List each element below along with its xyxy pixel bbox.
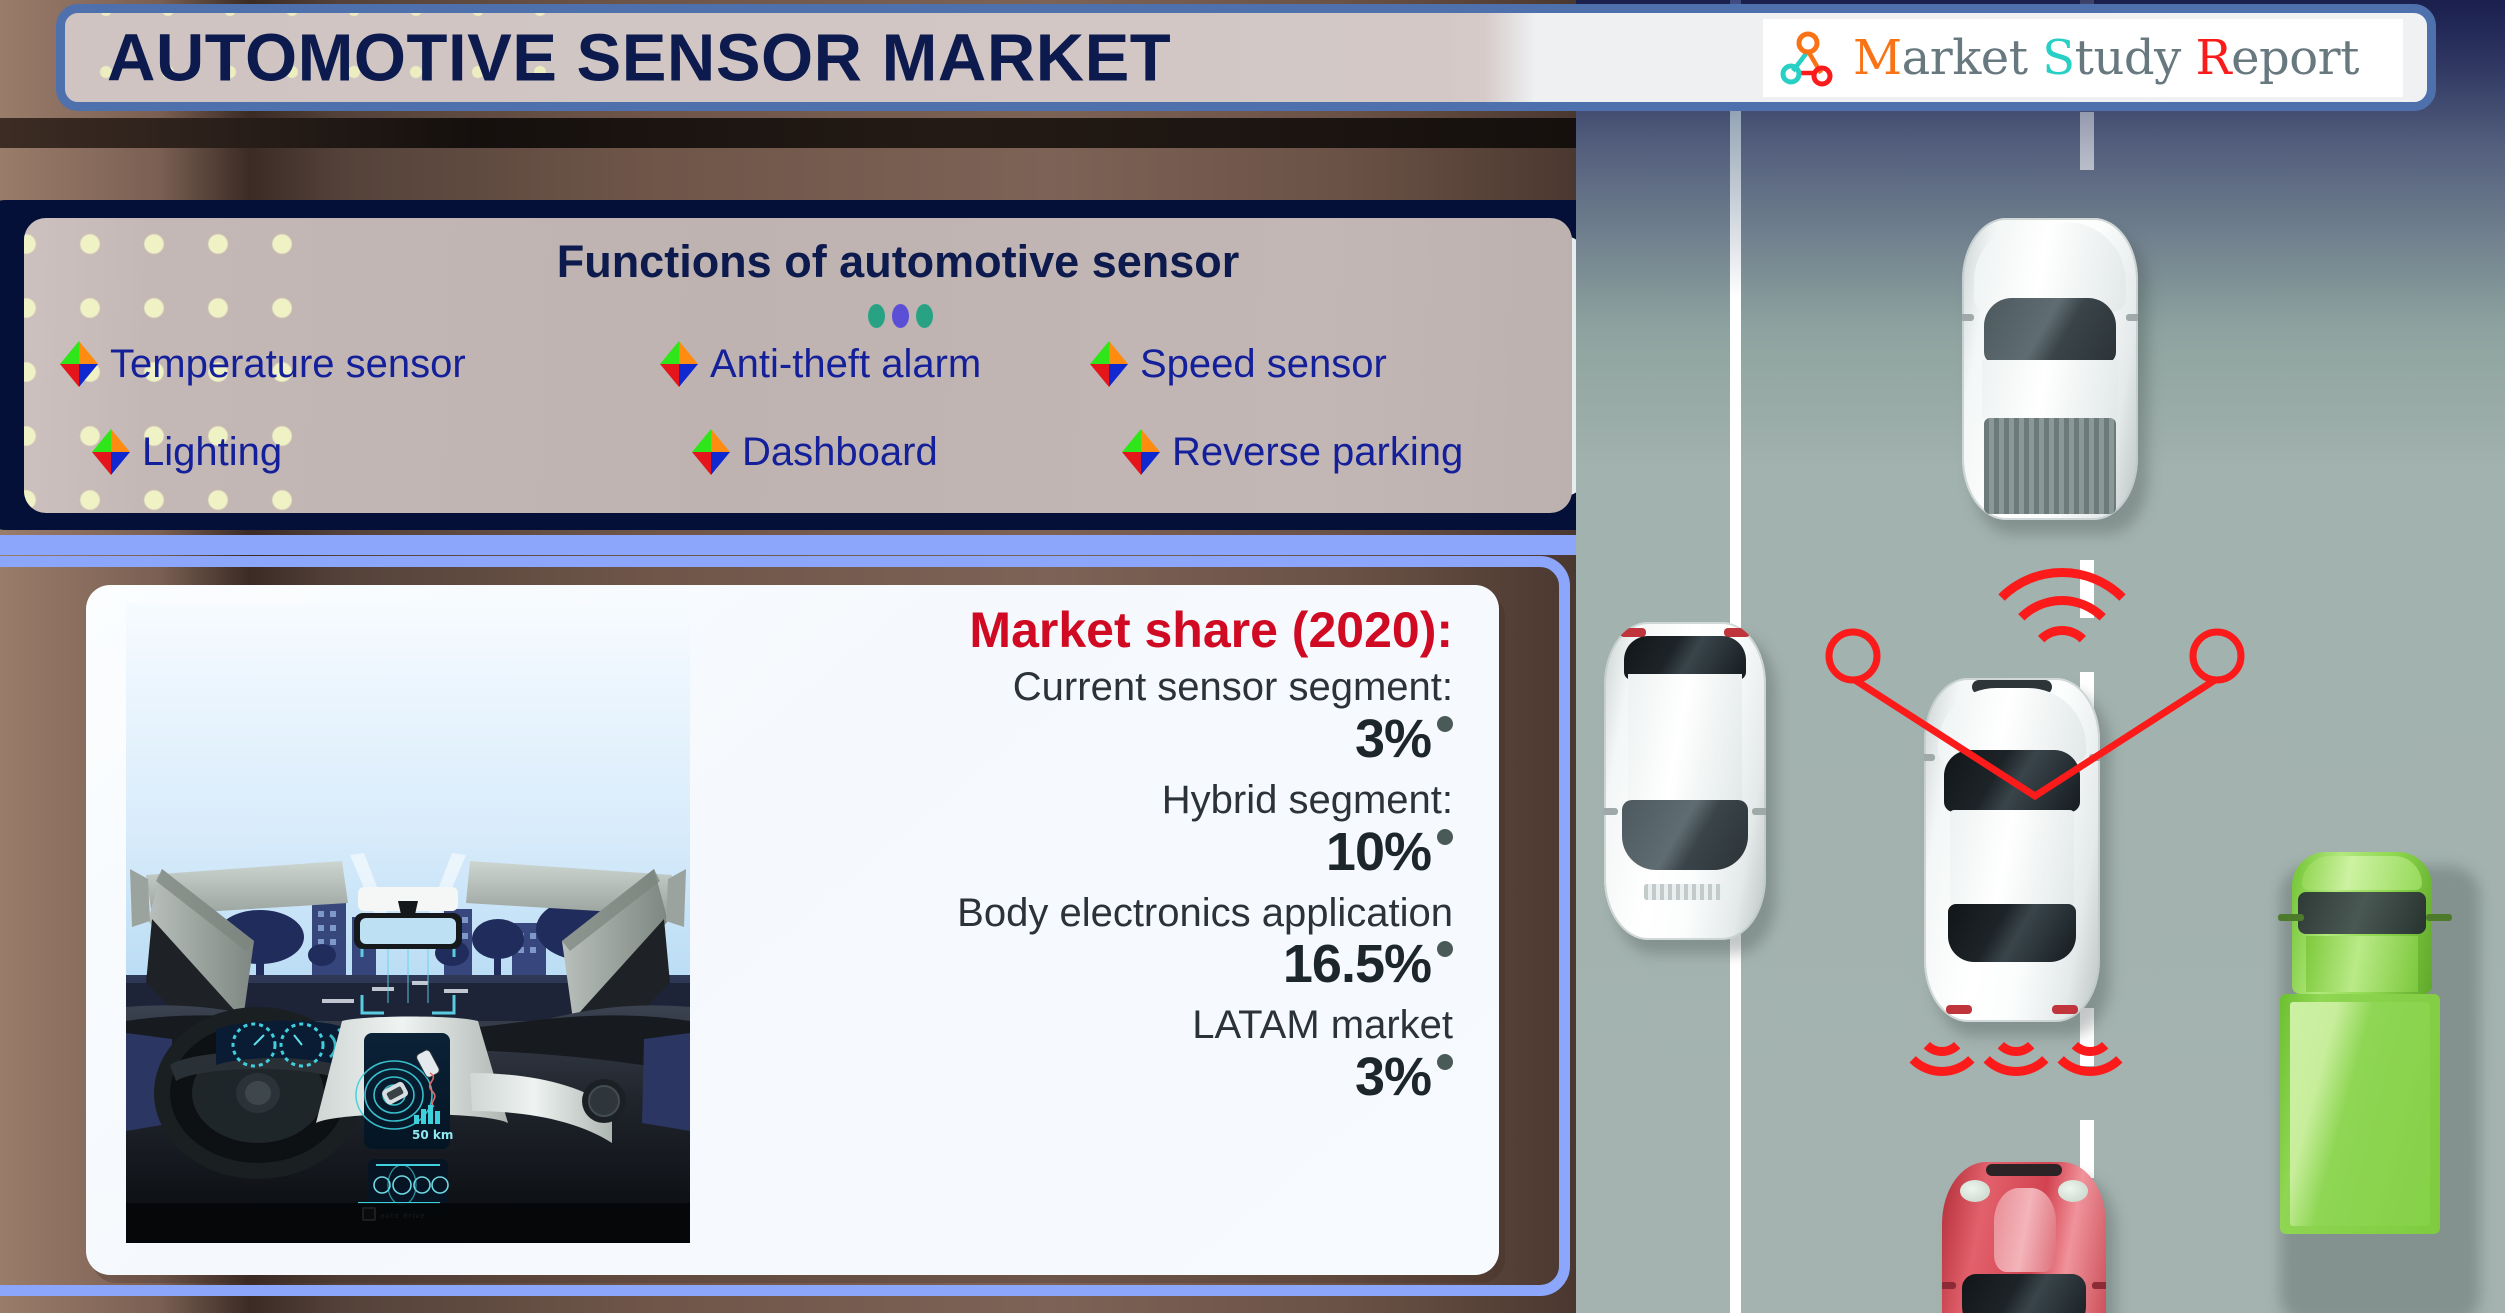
brand-logo[interactable]: Market Study Report [1763,19,2403,97]
market-share-text-block: Market share (2020): Current sensor segm… [690,585,1499,1275]
market-share-title: Market share (2020): [690,601,1453,659]
market-share-row-value-4: 3% [1355,1046,1431,1108]
market-share-row-value-wrap-3: 16.5% [690,933,1453,995]
logo-initial-s: S [2042,30,2074,86]
market-share-row-label-1: Current sensor segment: [690,665,1453,710]
function-item-label: Speed sensor [1140,342,1387,387]
functions-heading: Functions of automotive sensor [24,236,1572,288]
diamond-bullet-icon [660,341,698,387]
diamond-bullet-icon [1090,341,1128,387]
market-share-card: T 19 [86,585,1499,1275]
function-item-dashboard: Dashboard [660,424,1090,480]
market-share-row-value-wrap-2: 10% [690,821,1453,883]
vehicle-body [1942,1162,2106,1313]
vehicle-white-pickup-truck [1962,218,2138,520]
logo-initial-r: R [2195,30,2231,86]
sensor-wave-rear-right-icon [2044,1022,2136,1092]
headlight-right [2058,1180,2088,1202]
function-item-temperature-sensor: Temperature sensor [60,336,660,392]
diamond-bullet-icon [692,429,730,475]
separator-dot-3 [916,304,933,328]
market-share-row-value-1: 3% [1355,708,1431,770]
sensor-detection-lines-icon [1825,628,2245,818]
market-share-row-label-2: Hybrid segment: [690,778,1453,823]
market-share-row-value-3: 16.5% [1283,933,1431,995]
function-item-label: Temperature sensor [110,342,466,387]
header-bar: AUTOMOTIVE SENSOR MARKET Market Study Re… [56,4,2436,111]
infographic-canvas: Functions of automotive sensor Temperatu… [0,0,2505,1313]
vehicle-green-box-truck [2270,852,2470,1312]
separator-dot-1 [868,304,885,328]
function-item-speed-sensor: Speed sensor [1090,336,1510,392]
logo-rest-market: arket [1902,30,2028,86]
value-marker-dot [1437,941,1453,957]
function-item-lighting: Lighting [60,424,660,480]
diamond-bullet-icon [92,429,130,475]
vehicle-red-sports-car [1942,1162,2106,1313]
car-interior-hud-illustration: T 19 [126,603,690,1243]
diamond-bullet-icon [1122,429,1160,475]
value-marker-dot [1437,716,1453,732]
svg-text:50 km: 50 km [412,1128,453,1142]
headlight-left [1960,1180,1990,1202]
network-nodes-icon [1777,27,1839,89]
separator-dots [24,304,1572,328]
car-interior-illustration-wrap: T 19 [86,585,690,1275]
function-item-label: Dashboard [742,430,938,475]
function-item-label: Anti-theft alarm [710,342,981,387]
brand-logo-text: Market Study Report [1853,30,2359,86]
infographic-left-column: Functions of automotive sensor Temperatu… [0,0,1576,1313]
market-share-row-value-2: 10% [1326,821,1431,883]
windshield-glass [1984,298,2116,364]
value-marker-dot [1437,829,1453,845]
logo-initial-m: M [1853,30,1902,86]
rear-window-glass [1948,904,2076,962]
market-share-row-label-4: LATAM market [690,1003,1453,1048]
vehicle-body [1604,622,1766,940]
functions-list: Temperature sensor Anti-theft alarm Spee… [60,336,1530,480]
functions-panel: Functions of automotive sensor Temperatu… [24,218,1572,513]
windshield-glass [1622,800,1748,870]
truck-bed [1984,418,2116,514]
function-item-anti-theft-alarm: Anti-theft alarm [660,336,1090,392]
function-item-reverse-parking: Reverse parking [1090,424,1510,480]
logo-rest-report: eport [2231,30,2359,86]
windshield-glass [1962,1274,2086,1313]
page-title: AUTOMOTIVE SENSOR MARKET [107,19,1171,96]
function-item-label: Reverse parking [1172,430,1463,475]
taillight-right [1724,628,1750,637]
value-marker-dot [1437,1054,1453,1070]
diamond-bullet-icon [60,341,98,387]
logo-rest-study: tudy [2075,30,2181,86]
market-share-row-label-3: Body electronics application [690,891,1453,936]
vehicle-white-sedan-left [1604,622,1766,940]
blue-divider-bar [0,535,1576,555]
market-share-row-value-wrap-1: 3% [690,708,1453,770]
truck-cargo-box [2280,994,2440,1234]
vehicle-body [1962,218,2138,520]
road-scene [1570,0,2505,1313]
function-item-label: Lighting [142,430,282,475]
separator-dot-2 [892,304,909,328]
market-share-row-value-wrap-4: 3% [690,1046,1453,1108]
